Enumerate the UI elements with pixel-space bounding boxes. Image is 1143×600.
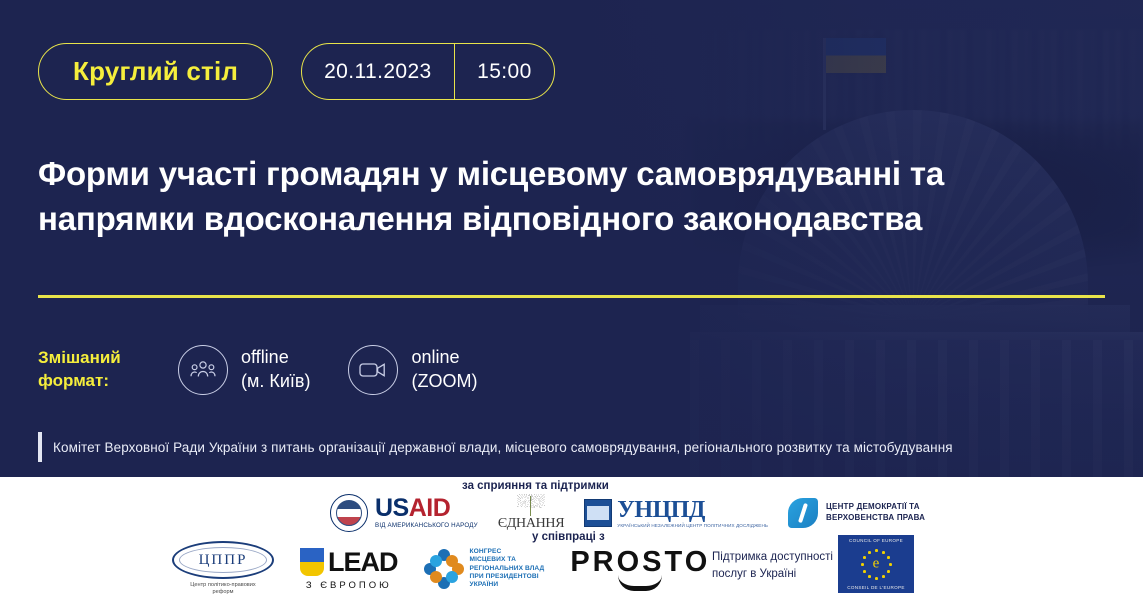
centre-democracy-rule-of-law-logo: ЦЕНТР ДЕМОКРАТІЇ ТА ВЕРХОВЕНСТВА ПРАВА (788, 498, 925, 528)
coe-top-label: COUNCIL OF EUROPE (849, 538, 903, 543)
event-poster: Круглий стіл 20.11.2023 15:00 Форми учас… (0, 0, 1143, 600)
congress-line2: МІСЦЕВИХ ТА (470, 556, 545, 564)
cppr-oval-icon: ЦППР (172, 541, 274, 579)
format-mode-online: online (ZOOM) (348, 345, 477, 395)
council-of-europe-logo: COUNCIL OF EUROPE e CONSEIL DE L'EUROPE (838, 535, 914, 593)
uncpd-wordmark: УНЦПД (617, 497, 705, 523)
cdrl-line1: ЦЕНТР ДЕМОКРАТІЇ ТА (826, 502, 925, 513)
globe-icon (584, 499, 612, 527)
format-label-line2: формат: (38, 370, 178, 393)
format-mode-online-line2: (ZOOM) (411, 370, 477, 394)
uncpd-tagline: УКРАЇНСЬКИЙ НЕЗАЛЕЖНИЙ ЦЕНТР ПОЛІТИЧНИХ … (617, 524, 768, 529)
coe-support-line1: Підтримка доступності (712, 549, 833, 566)
ulead-top: LEAD (300, 547, 398, 578)
cppr-tagline: Центр політико-правових реформ (190, 582, 255, 597)
format-label-line1: Змішаний (38, 347, 178, 370)
event-date-label: 20.11.2023 (324, 60, 432, 84)
cppr-tagline-line2: реформ (213, 589, 234, 595)
format-label: Змішаний формат: (38, 347, 178, 393)
cppr-tagline-line1: Центр політико-правових (190, 582, 255, 588)
cdrl-wordmark: ЦЕНТР ДЕМОКРАТІЇ ТА ВЕРХОВЕНСТВА ПРАВА (826, 502, 925, 524)
organizer-committee: Комітет Верховної Ради України з питань … (38, 432, 953, 462)
committee-label: Комітет Верховної Ради України з питань … (53, 440, 953, 455)
prosto-smile-icon (618, 575, 662, 591)
cppr-logo: ЦППР Центр політико-правових реформ (172, 541, 274, 597)
event-title: Форми участі громадян у місцевому самовр… (38, 152, 1098, 242)
group-icon (178, 345, 228, 395)
ulead-tagline: З ЄВРОПОЮ (306, 580, 392, 591)
usaid-wordmark: USAID ВІД АМЕРИКАНСЬКОГО НАРОДУ (375, 496, 478, 529)
congress-line5: УКРАЇНИ (470, 581, 545, 589)
event-type-label: Круглий стіл (73, 56, 238, 87)
format-section: Змішаний формат: offline (м. К (38, 345, 477, 395)
event-time: 15:00 (455, 44, 554, 99)
prosto-logo: PROSTO (570, 546, 710, 591)
uncpd-logo: УНЦПД УКРАЇНСЬКИЙ НЕЗАЛЕЖНИЙ ЦЕНТР ПОЛІТ… (584, 498, 768, 529)
congress-logo: КОНГРЕС МІСЦЕВИХ ТА РЕГІОНАЛЬНИХ ВЛАД ПР… (424, 548, 545, 590)
congress-line3: РЕГІОНАЛЬНИХ ВЛАД (470, 565, 545, 573)
coe-support-text: Підтримка доступності послуг в Україні (712, 549, 833, 582)
dandelion-icon (511, 494, 551, 516)
ulead-logo: LEAD З ЄВРОПОЮ (300, 547, 398, 591)
video-camera-icon (348, 345, 398, 395)
ulead-u-icon (300, 548, 324, 576)
usaid-aid: AID (409, 494, 451, 522)
event-datetime-badge: 20.11.2023 15:00 (301, 43, 555, 100)
coe-stars-icon: e (861, 549, 891, 579)
header-badges: Круглий стіл 20.11.2023 15:00 (38, 43, 555, 100)
partner-logos-row-2: ЦППР Центр політико-правових реформ LEAD… (172, 541, 710, 597)
uncpd-wordmark-block: УНЦПД УКРАЇНСЬКИЙ НЕЗАЛЕЖНИЙ ЦЕНТР ПОЛІТ… (617, 498, 768, 529)
caption-support: за сприяння та підтримки (462, 480, 609, 492)
format-mode-offline-text: offline (м. Київ) (241, 346, 310, 394)
ednannia-wordmark: ЄДНАННЯ (498, 516, 564, 532)
usaid-us: US (375, 494, 409, 522)
partner-logos-row-1: USAID ВІД АМЕРИКАНСЬКОГО НАРОДУ ЄДНАННЯ … (330, 494, 925, 532)
event-type-badge: Круглий стіл (38, 43, 273, 100)
usaid-seal-icon (330, 494, 368, 532)
coe-bottom-label: CONSEIL DE L'EUROPE (847, 585, 904, 590)
usaid-tagline: ВІД АМЕРИКАНСЬКОГО НАРОДУ (375, 523, 478, 529)
coe-support-line2: послуг в Україні (712, 566, 833, 583)
format-mode-offline: offline (м. Київ) (178, 345, 310, 395)
congress-wordmark: КОНГРЕС МІСЦЕВИХ ТА РЕГІОНАЛЬНИХ ВЛАД ПР… (470, 548, 545, 590)
usaid-logo: USAID ВІД АМЕРИКАНСЬКОГО НАРОДУ (330, 494, 478, 532)
ednannia-logo: ЄДНАННЯ (498, 494, 564, 532)
cppr-wordmark: ЦППР (179, 547, 267, 573)
format-mode-offline-line1: offline (241, 346, 310, 370)
coe-e-glyph: e (873, 556, 880, 573)
yellow-divider (38, 295, 1105, 298)
congress-cluster-icon (424, 549, 464, 589)
format-mode-offline-line2: (м. Київ) (241, 370, 310, 394)
format-mode-online-text: online (ZOOM) (411, 346, 477, 394)
committee-accent-bar (38, 432, 42, 462)
congress-line1: КОНГРЕС (470, 548, 545, 556)
feather-icon (788, 498, 818, 528)
format-mode-online-line1: online (411, 346, 477, 370)
ulead-wordmark: LEAD (328, 547, 398, 578)
event-date: 20.11.2023 (302, 44, 454, 99)
event-time-label: 15:00 (477, 60, 532, 84)
cdrl-line2: ВЕРХОВЕНСТВА ПРАВА (826, 513, 925, 524)
